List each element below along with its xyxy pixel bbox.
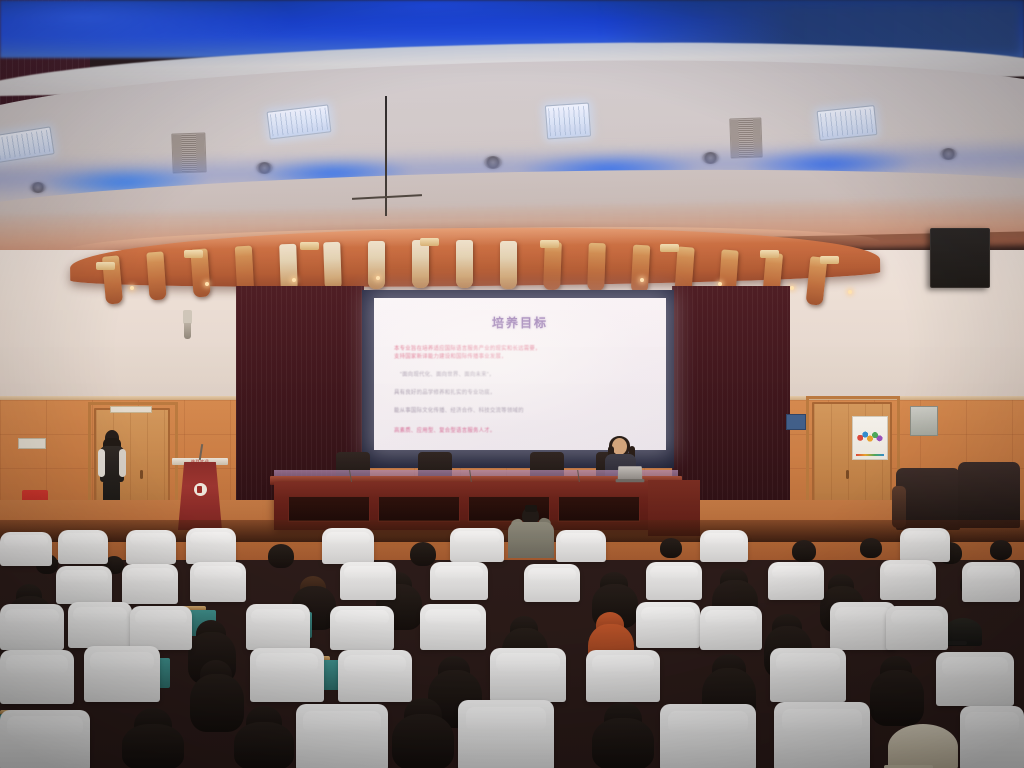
presenter-head — [612, 438, 627, 455]
canopy-cap-6 — [660, 244, 679, 252]
audience-seat[interactable] — [524, 564, 580, 602]
audience-seat[interactable] — [700, 606, 762, 650]
photographer-camera — [525, 505, 537, 512]
stage-left-door-header — [110, 406, 152, 413]
audience-seat[interactable] — [770, 648, 846, 702]
audience-seat[interactable] — [58, 530, 108, 564]
table-front-panel-4 — [558, 496, 640, 522]
security-camera — [183, 310, 192, 324]
poster-color-bar — [856, 454, 884, 456]
stage-right-door-handle[interactable] — [846, 470, 849, 479]
slide-line-5: 能从事国际文化传播、经济合作、科技交流等领域的 — [394, 408, 646, 415]
table-front-panel-1 — [288, 496, 370, 522]
audience-hair — [234, 722, 294, 768]
audience-seat[interactable] — [322, 528, 374, 564]
audience-seat[interactable] — [68, 602, 132, 648]
audience-cap-beige — [888, 724, 958, 768]
slide-line-4: 具有良好的品学修养和扎实的专业功底， — [394, 390, 646, 397]
canopy-cap-7 — [760, 250, 779, 258]
audience-head — [268, 544, 294, 568]
audience-seat[interactable] — [0, 710, 90, 768]
canopy-slat-7 — [368, 241, 385, 289]
canopy-slat-6 — [323, 242, 342, 291]
canopy-light-2 — [205, 282, 209, 286]
canopy-slat-2 — [146, 251, 166, 300]
person-sleeve-left — [98, 449, 105, 477]
stage-left-door-handle[interactable] — [140, 470, 143, 479]
door-poster — [852, 416, 888, 460]
audience-seat[interactable] — [458, 700, 554, 768]
audience-cap-black — [944, 618, 982, 646]
audience-seat[interactable] — [0, 650, 74, 704]
audience-seat[interactable] — [450, 528, 504, 562]
audience-seat[interactable] — [340, 562, 396, 600]
canopy-light-5 — [640, 278, 644, 282]
presenter-laptop[interactable] — [618, 466, 643, 480]
projection-screen[interactable]: 培养目标 本专业旨在培养适应国际语言服务产业的现实和长远需要， 支持国家新译能力… — [374, 298, 666, 450]
wall-sign-right — [786, 414, 806, 430]
audience-seat[interactable] — [186, 528, 236, 564]
audience-seat[interactable] — [700, 530, 748, 562]
audience-hair — [392, 714, 454, 768]
audience-seat[interactable] — [296, 704, 388, 768]
canopy-cap-5 — [540, 240, 559, 248]
audience-head — [792, 540, 816, 562]
audience-seat[interactable] — [430, 562, 488, 600]
audience-hair — [870, 670, 924, 726]
audience-seat[interactable] — [420, 604, 486, 650]
table-front-panel-2 — [378, 496, 460, 522]
slide-line-3: "面向现代化、面向世界、面向未来"， — [400, 372, 652, 379]
canopy-light-8 — [848, 290, 852, 294]
audience-seat[interactable] — [122, 564, 178, 604]
audience-head — [660, 538, 682, 558]
wall-sign-left — [18, 438, 46, 449]
wall-electrical-panel — [910, 406, 938, 436]
audience-seat[interactable] — [556, 530, 606, 562]
audience-head — [990, 540, 1012, 560]
slide-line-1: 本专业旨在培养适应国际语言服务产业的现实和长远需要， — [394, 346, 646, 353]
audience-seat[interactable] — [886, 606, 948, 650]
audience-seat[interactable] — [130, 606, 192, 650]
audience-seat[interactable] — [330, 606, 394, 650]
audience-seat[interactable] — [936, 652, 1014, 706]
audience-seat[interactable] — [586, 650, 660, 702]
canopy-cap-2 — [184, 250, 203, 258]
audience-seat[interactable] — [646, 562, 702, 600]
canopy-cap-3 — [300, 242, 319, 250]
canopy-cap-1 — [96, 262, 115, 270]
audience-seat[interactable] — [338, 650, 412, 702]
audience-seat[interactable] — [0, 532, 52, 566]
canopy-light-3 — [292, 278, 296, 282]
canopy-cap-4 — [420, 238, 439, 246]
audience-seat[interactable] — [250, 648, 324, 702]
audience-seat[interactable] — [962, 562, 1020, 602]
slide-title: 培养目标 — [374, 314, 666, 331]
person-sleeve-right — [119, 449, 126, 477]
audience-area — [0, 528, 1024, 768]
audience-hair — [190, 674, 244, 732]
audience-seat[interactable] — [880, 560, 936, 600]
audience-seat[interactable] — [636, 602, 700, 648]
slide-line-6: 高素质、应用型、复合型语言服务人才。 — [394, 428, 646, 435]
canopy-cap-8 — [820, 256, 839, 264]
canopy-slat-10 — [500, 241, 517, 289]
audience-seat[interactable] — [190, 562, 246, 602]
audience-seat[interactable] — [56, 566, 112, 604]
audience-seat[interactable] — [660, 704, 756, 768]
canopy-slat-13 — [631, 245, 650, 294]
audience-seat[interactable] — [0, 604, 64, 650]
audience-head — [860, 538, 882, 558]
stage-sofa-2 — [958, 462, 1020, 528]
ceiling-light-panel-4 — [817, 105, 878, 141]
podium-emblem — [193, 482, 208, 497]
wall-pa-speaker — [930, 228, 990, 288]
audience-seat[interactable] — [126, 530, 176, 564]
canopy-light-7 — [790, 286, 794, 290]
audience-seat[interactable] — [774, 702, 870, 768]
audience-seat[interactable] — [246, 604, 310, 650]
canopy-slat-12 — [587, 243, 606, 292]
audience-seat[interactable] — [768, 562, 824, 600]
audience-head — [410, 542, 436, 566]
auditorium-scene: 培养目标 本专业旨在培养适应国际语言服务产业的现实和长远需要， 支持国家新译能力… — [0, 0, 1024, 768]
audience-hair — [592, 718, 654, 768]
poster-graphic — [856, 429, 884, 445]
audience-seat[interactable] — [960, 706, 1024, 768]
audience-seat[interactable] — [490, 648, 566, 702]
canopy-slat-11 — [543, 242, 562, 291]
audience-seat[interactable] — [84, 646, 160, 702]
canopy-slat-5 — [279, 244, 298, 293]
canopy-slat-8 — [412, 240, 429, 288]
slide-line-2: 支持国家新译能力建设和国际传播事业发展， — [394, 354, 646, 361]
audience-hair — [122, 724, 184, 768]
canopy-light-1 — [130, 286, 134, 290]
canopy-light-4 — [376, 276, 380, 280]
audience-seat[interactable] — [900, 528, 950, 562]
canopy-slat-9 — [456, 240, 473, 288]
ceiling-light-panel-3 — [545, 103, 591, 140]
